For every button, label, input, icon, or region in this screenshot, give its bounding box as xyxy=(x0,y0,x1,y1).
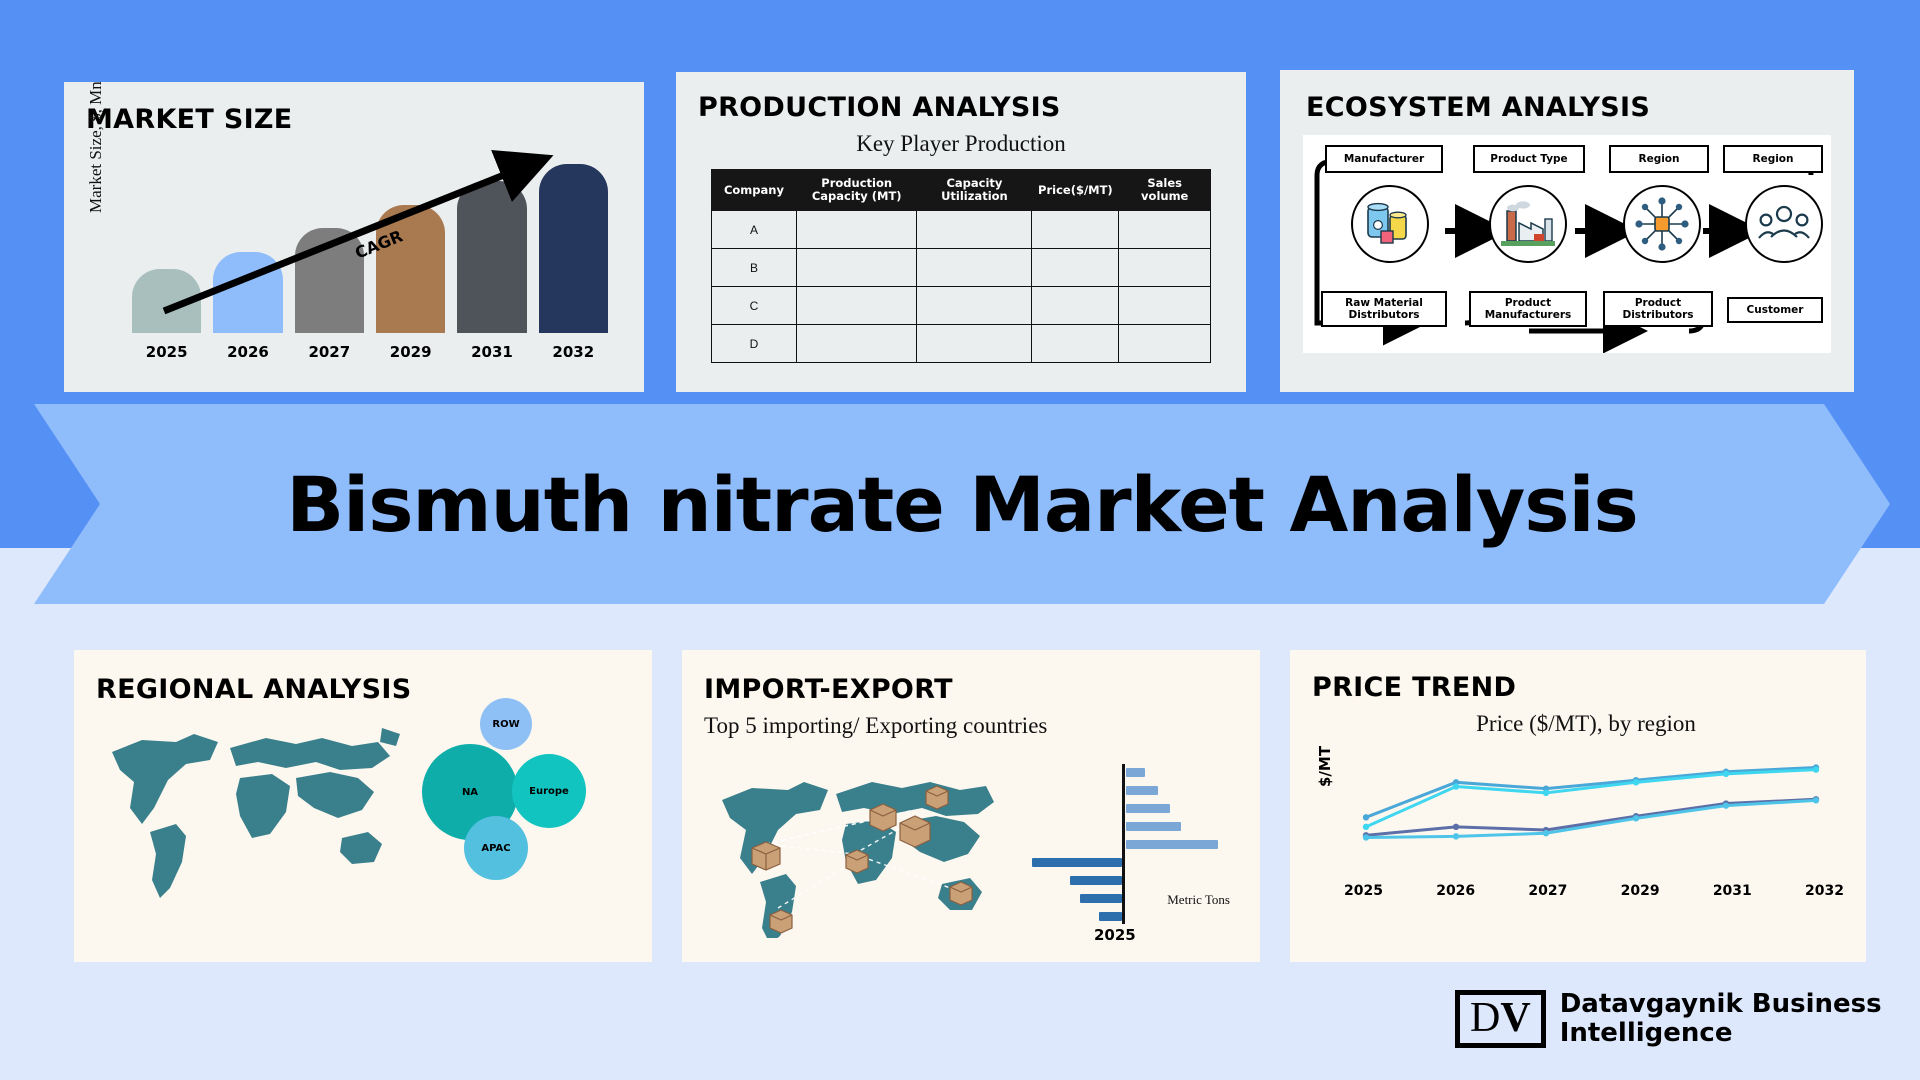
production-table-cell xyxy=(1119,249,1211,287)
logo-line-2: Intelligence xyxy=(1560,1019,1882,1048)
market-size-year-label: 2029 xyxy=(376,343,445,361)
price-trend-data-point xyxy=(1543,830,1549,836)
tornado-axis-label: Metric Tons xyxy=(1167,892,1230,908)
card-import-export: IMPORT-EXPORT Top 5 importing/ Exporting… xyxy=(682,650,1260,962)
tornado-bar-import xyxy=(1126,768,1145,777)
import-export-subtitle: Top 5 importing/ Exporting countries xyxy=(704,713,1260,739)
price-trend-data-point xyxy=(1363,824,1369,830)
price-trend-lines xyxy=(1344,745,1844,875)
tornado-bar-import xyxy=(1126,804,1170,813)
price-trend-chart: $/MT 202520262027202920312032 xyxy=(1290,741,1866,893)
eco-node-product-manufacturers: Product Manufacturers xyxy=(1469,291,1587,327)
eco-node-product-distributors: Product Distributors xyxy=(1603,291,1713,327)
price-trend-data-point xyxy=(1723,771,1729,777)
price-trend-year-label: 2029 xyxy=(1621,883,1660,899)
price-trend-data-point xyxy=(1453,824,1459,830)
factory-icon xyxy=(1489,185,1567,263)
price-trend-data-point xyxy=(1453,783,1459,789)
market-size-title: MARKET SIZE xyxy=(86,104,644,135)
price-trend-data-point xyxy=(1813,797,1819,803)
brand-logo: DV Datavgaynik Business Intelligence xyxy=(1455,990,1882,1048)
price-trend-data-point xyxy=(1543,790,1549,796)
tornado-bar-import xyxy=(1126,822,1181,831)
production-table-header-row: CompanyProduction Capacity (MT)Capacity … xyxy=(712,170,1211,211)
world-map-icon xyxy=(90,712,410,912)
price-trend-year-label: 2027 xyxy=(1528,883,1567,899)
production-table-cell xyxy=(1032,211,1119,249)
page-title: Bismuth nitrate Market Analysis xyxy=(286,460,1638,549)
tornado-bar-export xyxy=(1070,876,1123,885)
card-market-size: MARKET SIZE Market Size, $, Mn CAGR 2025… xyxy=(64,82,644,392)
barrels-icon xyxy=(1351,185,1429,263)
market-size-year-label: 2027 xyxy=(295,343,364,361)
production-table-header: Sales volume xyxy=(1119,170,1211,211)
table-row: B xyxy=(712,249,1211,287)
market-size-bar xyxy=(213,252,282,333)
price-trend-data-point xyxy=(1813,766,1819,772)
market-size-bar xyxy=(132,269,201,333)
tornado-bar-import xyxy=(1126,786,1158,795)
production-table-cell xyxy=(796,211,917,249)
market-size-year-label: 2031 xyxy=(457,343,526,361)
bubble-row: ROW xyxy=(480,698,532,750)
price-trend-year-label: 2032 xyxy=(1805,883,1844,899)
market-size-y-axis-label: Market Size, $, Mn xyxy=(86,81,106,213)
price-trend-series-line xyxy=(1366,800,1816,837)
production-table-cell xyxy=(796,287,917,325)
production-table-header: Capacity Utilization xyxy=(917,170,1032,211)
production-table-cell xyxy=(917,249,1032,287)
logo-mark-icon: DV xyxy=(1455,990,1546,1048)
market-size-bar xyxy=(539,164,608,333)
tornado-bar-export xyxy=(1080,894,1122,903)
price-trend-x-axis-labels: 202520262027202920312032 xyxy=(1344,883,1844,899)
production-table-cell: A xyxy=(712,211,797,249)
card-production-analysis: PRODUCTION ANALYSIS Key Player Productio… xyxy=(676,72,1246,392)
production-table-cell xyxy=(917,325,1032,363)
logo-line-1: Datavgaynik Business xyxy=(1560,990,1882,1019)
production-table-header: Price($/MT) xyxy=(1032,170,1119,211)
network-icon xyxy=(1623,185,1701,263)
eco-node-region-2: Region xyxy=(1723,145,1823,173)
price-trend-year-label: 2031 xyxy=(1713,883,1752,899)
table-row: A xyxy=(712,211,1211,249)
market-size-year-label: 2026 xyxy=(213,343,282,361)
price-trend-data-point xyxy=(1633,779,1639,785)
price-trend-subtitle: Price ($/MT), by region xyxy=(1346,711,1826,737)
table-row: D xyxy=(712,325,1211,363)
market-size-bar xyxy=(457,181,526,333)
logo-wordmark: Datavgaynik Business Intelligence xyxy=(1560,990,1882,1048)
production-analysis-title: PRODUCTION ANALYSIS xyxy=(698,92,1246,123)
market-size-chart: Market Size, $, Mn CAGR 2025202620272029… xyxy=(64,135,644,373)
logo-mark-v: V xyxy=(1500,995,1530,1041)
eco-node-raw-material-distributors: Raw Material Distributors xyxy=(1321,291,1447,327)
production-table-header: Production Capacity (MT) xyxy=(796,170,917,211)
production-table-cell xyxy=(1119,287,1211,325)
price-trend-data-point xyxy=(1633,815,1639,821)
market-size-year-label: 2032 xyxy=(539,343,608,361)
market-size-x-axis-labels: 202520262027202920312032 xyxy=(132,343,608,361)
bubble-apac: APAC xyxy=(464,816,528,880)
tornado-axis xyxy=(1122,764,1125,924)
production-table: CompanyProduction Capacity (MT)Capacity … xyxy=(711,169,1211,363)
eco-node-region-1: Region xyxy=(1609,145,1709,173)
price-trend-data-point xyxy=(1363,814,1369,820)
trade-flow-map-icon xyxy=(704,758,994,938)
table-row: C xyxy=(712,287,1211,325)
tornado-year-label: 2025 xyxy=(1094,926,1136,944)
price-trend-year-label: 2025 xyxy=(1344,883,1383,899)
production-table-header: Company xyxy=(712,170,797,211)
ecosystem-diagram: Manufacturer Product Type Region Region xyxy=(1303,135,1831,353)
import-export-title: IMPORT-EXPORT xyxy=(704,674,1260,705)
price-trend-data-point xyxy=(1723,802,1729,808)
eco-node-customer: Customer xyxy=(1727,297,1823,323)
tornado-bar-import xyxy=(1126,840,1218,849)
production-table-cell xyxy=(1032,249,1119,287)
production-table-cell xyxy=(1032,287,1119,325)
production-table-cell: D xyxy=(712,325,797,363)
card-ecosystem-analysis: ECOSYSTEM ANALYSIS Manufacturer Product … xyxy=(1280,70,1854,392)
eco-node-product-type: Product Type xyxy=(1473,145,1585,173)
tornado-bar-export xyxy=(1032,858,1122,867)
bubble-europe: Europe xyxy=(512,754,586,828)
price-trend-series-line xyxy=(1366,767,1816,817)
production-table-cell xyxy=(1119,211,1211,249)
eco-node-manufacturer: Manufacturer xyxy=(1325,145,1443,173)
banner-ribbon: Bismuth nitrate Market Analysis xyxy=(34,404,1890,604)
people-icon xyxy=(1745,185,1823,263)
production-table-cell xyxy=(1119,325,1211,363)
tornado-bar-export xyxy=(1099,912,1122,921)
price-trend-data-point xyxy=(1453,833,1459,839)
price-trend-data-point xyxy=(1363,834,1369,840)
price-trend-year-label: 2026 xyxy=(1436,883,1475,899)
production-table-cell xyxy=(917,287,1032,325)
production-table-cell xyxy=(796,325,917,363)
market-size-year-label: 2025 xyxy=(132,343,201,361)
market-size-bar xyxy=(376,205,445,334)
logo-mark-d: D xyxy=(1470,995,1500,1041)
production-table-cell xyxy=(796,249,917,287)
production-analysis-subtitle: Key Player Production xyxy=(676,131,1246,157)
production-table-cell xyxy=(917,211,1032,249)
ecosystem-analysis-title: ECOSYSTEM ANALYSIS xyxy=(1306,92,1854,123)
card-regional-analysis: REGIONAL ANALYSIS ROW NA Europe APAC xyxy=(74,650,652,962)
price-trend-series-line xyxy=(1366,770,1816,827)
price-trend-title: PRICE TREND xyxy=(1312,672,1866,703)
card-price-trend: PRICE TREND Price ($/MT), by region $/MT… xyxy=(1290,650,1866,962)
regional-bubble-chart: ROW NA Europe APAC xyxy=(422,698,612,888)
price-trend-y-axis-label: $/MT xyxy=(1316,746,1334,787)
production-table-cell: B xyxy=(712,249,797,287)
import-export-tornado-chart: Metric Tons 2025 xyxy=(1042,764,1232,944)
production-table-cell: C xyxy=(712,287,797,325)
production-table-body: ABCD xyxy=(712,211,1211,363)
production-table-cell xyxy=(1032,325,1119,363)
